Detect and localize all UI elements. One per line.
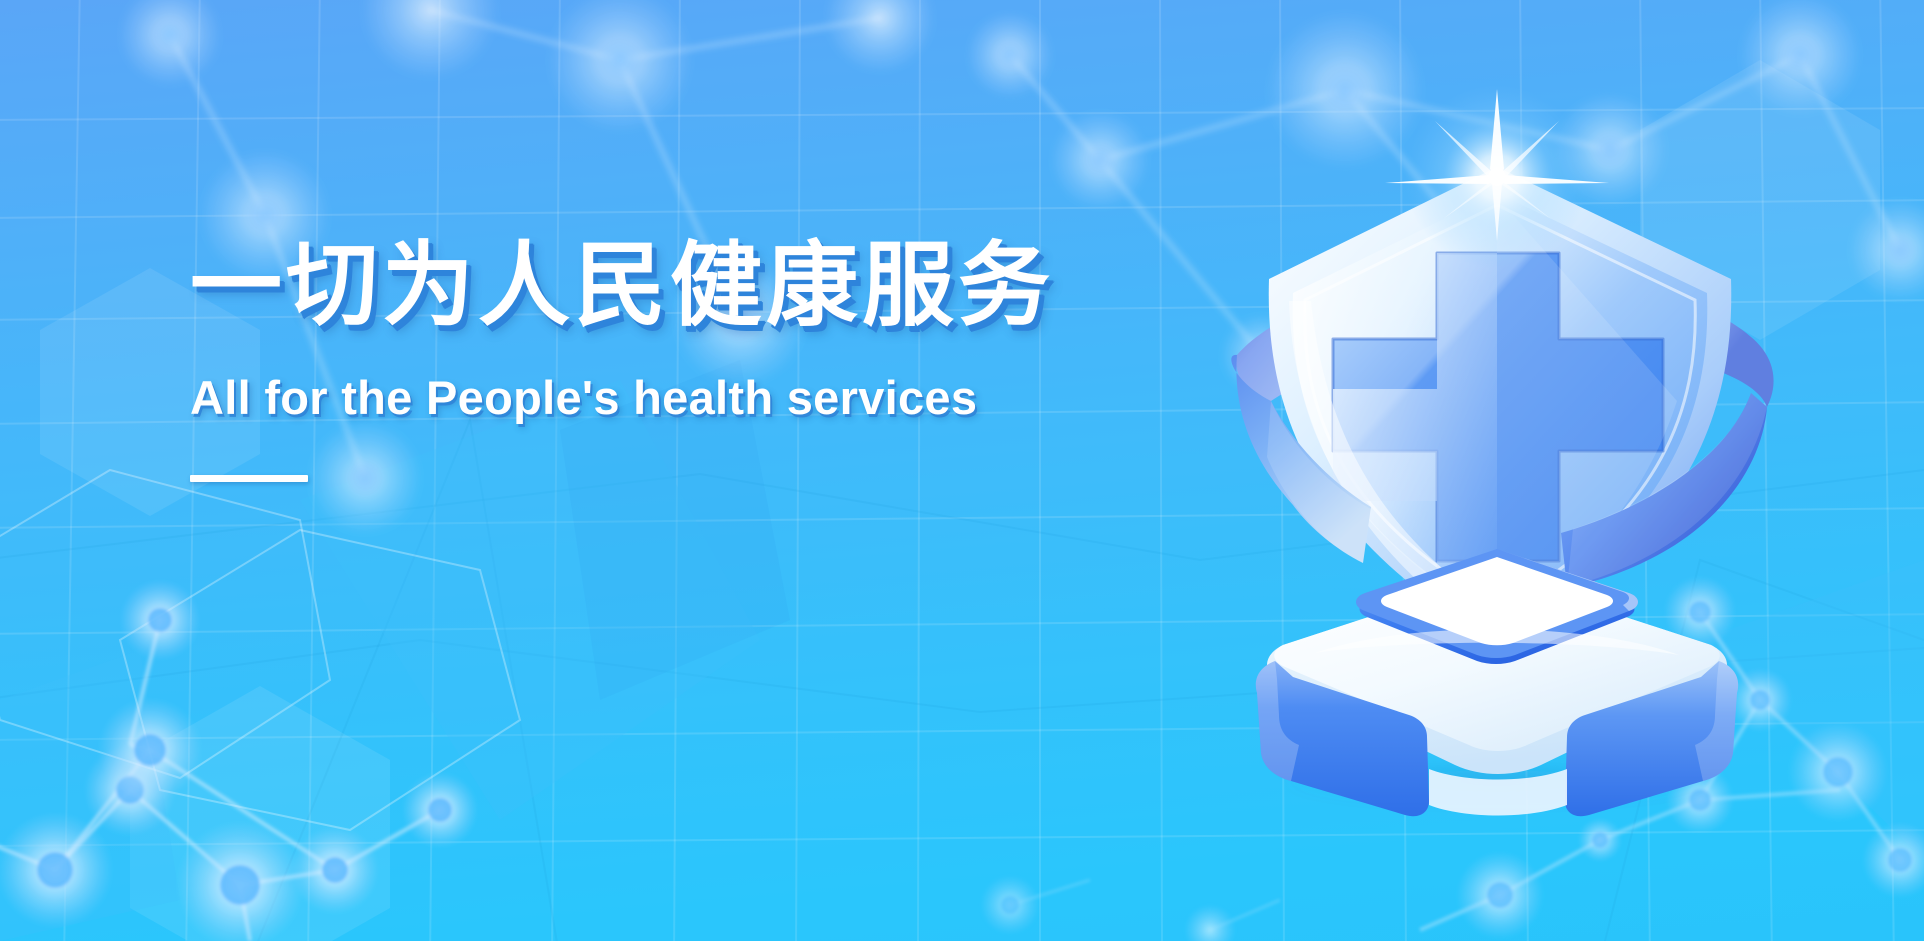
banner-copy: 一切为人民健康服务 All for the People's health se… [190,238,1190,482]
pedestal-icon [1256,549,1738,816]
shield-illustration [1175,105,1815,805]
health-banner: 一切为人民健康服务 All for the People's health se… [0,0,1924,941]
page-subtitle: All for the People's health services [190,372,1190,424]
title-divider [190,475,308,482]
page-title: 一切为人民健康服务 [190,238,1190,336]
